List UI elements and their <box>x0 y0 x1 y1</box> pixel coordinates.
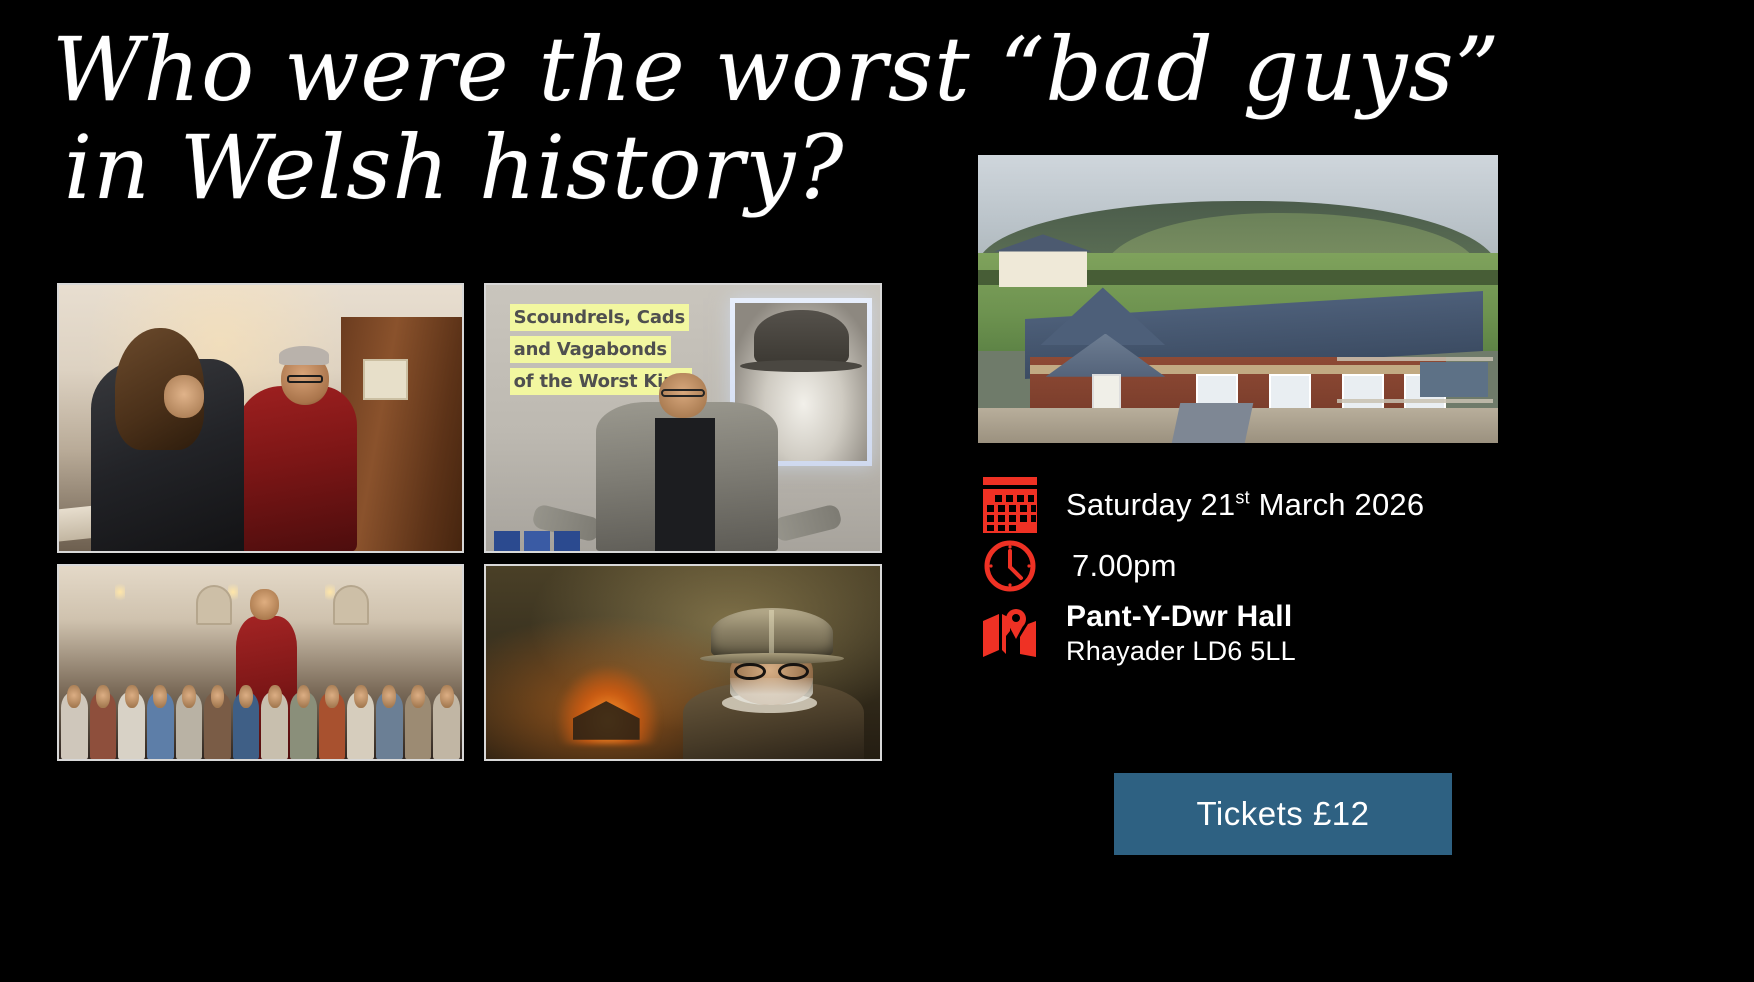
calendar-icon <box>978 477 1042 533</box>
decor-speaker-shirt <box>655 418 714 551</box>
decor-figure-beard <box>730 678 813 705</box>
decor-bowler-hat <box>754 310 849 367</box>
detail-row-time: 7.00pm <box>978 536 1538 596</box>
title-line-1: Who were the worst “bad guys” <box>52 18 1008 122</box>
event-date: Saturday 21st March 2026 <box>1066 487 1424 523</box>
clock-icon <box>978 538 1042 594</box>
tickets-button[interactable]: Tickets £12 <box>1114 773 1452 855</box>
decor-presenter-glasses <box>287 375 323 384</box>
decor-door <box>341 317 462 551</box>
detail-row-date: Saturday 21st March 2026 <box>978 474 1538 536</box>
title-line-2: in Welsh history? <box>64 116 1008 220</box>
decor-speaker-arm-right <box>772 503 843 542</box>
location-text-group: Pant-Y-Dwr Hall Rhayader LD6 5LL <box>1066 600 1296 667</box>
slide-line-1: Scoundrels, Cads <box>510 304 689 331</box>
event-date-day: Saturday 21 <box>1066 487 1235 522</box>
venue-address: Rhayader LD6 5LL <box>1066 636 1296 667</box>
photo-presenter-with-slide: Scoundrels, Cads and Vagabonds of the Wo… <box>484 283 882 553</box>
event-date-month-year: March 2026 <box>1250 487 1425 522</box>
decor-red-jacket <box>236 386 357 551</box>
decor-speaker-glasses <box>661 389 704 397</box>
photo-collage: Scoundrels, Cads and Vagabonds of the Wo… <box>57 283 882 761</box>
decor-table-cards <box>494 527 612 551</box>
event-details: Saturday 21st March 2026 7.00pm <box>978 474 1538 670</box>
event-time: 7.00pm <box>1066 548 1177 584</box>
map-pin-icon <box>978 605 1042 661</box>
venue-photo <box>978 155 1498 443</box>
decor-woman-face <box>164 375 204 418</box>
tickets-label: Tickets £12 <box>1196 795 1369 833</box>
photo-audience-applauding <box>57 564 464 761</box>
decor-presenter-hair <box>279 346 329 365</box>
photo-painted-portrait-helmet <box>484 564 882 761</box>
projected-slide-text: Scoundrels, Cads and Vagabonds of the Wo… <box>510 304 739 395</box>
decor-crowd <box>59 651 462 759</box>
venue-name: Pant-Y-Dwr Hall <box>1066 600 1296 634</box>
event-poster: Who were the worst “bad guys” in Welsh h… <box>0 0 1754 982</box>
photo-audience-member-and-presenter <box>57 283 464 553</box>
decor-round-glasses <box>734 663 809 680</box>
page-title: Who were the worst “bad guys” in Welsh h… <box>48 18 1008 220</box>
event-date-ordinal: st <box>1235 488 1249 508</box>
decor-presenter-head <box>250 589 278 620</box>
decor-helmet <box>711 608 833 658</box>
detail-row-location: Pant-Y-Dwr Hall Rhayader LD6 5LL <box>978 596 1538 670</box>
slide-line-2: and Vagabonds <box>510 336 671 363</box>
